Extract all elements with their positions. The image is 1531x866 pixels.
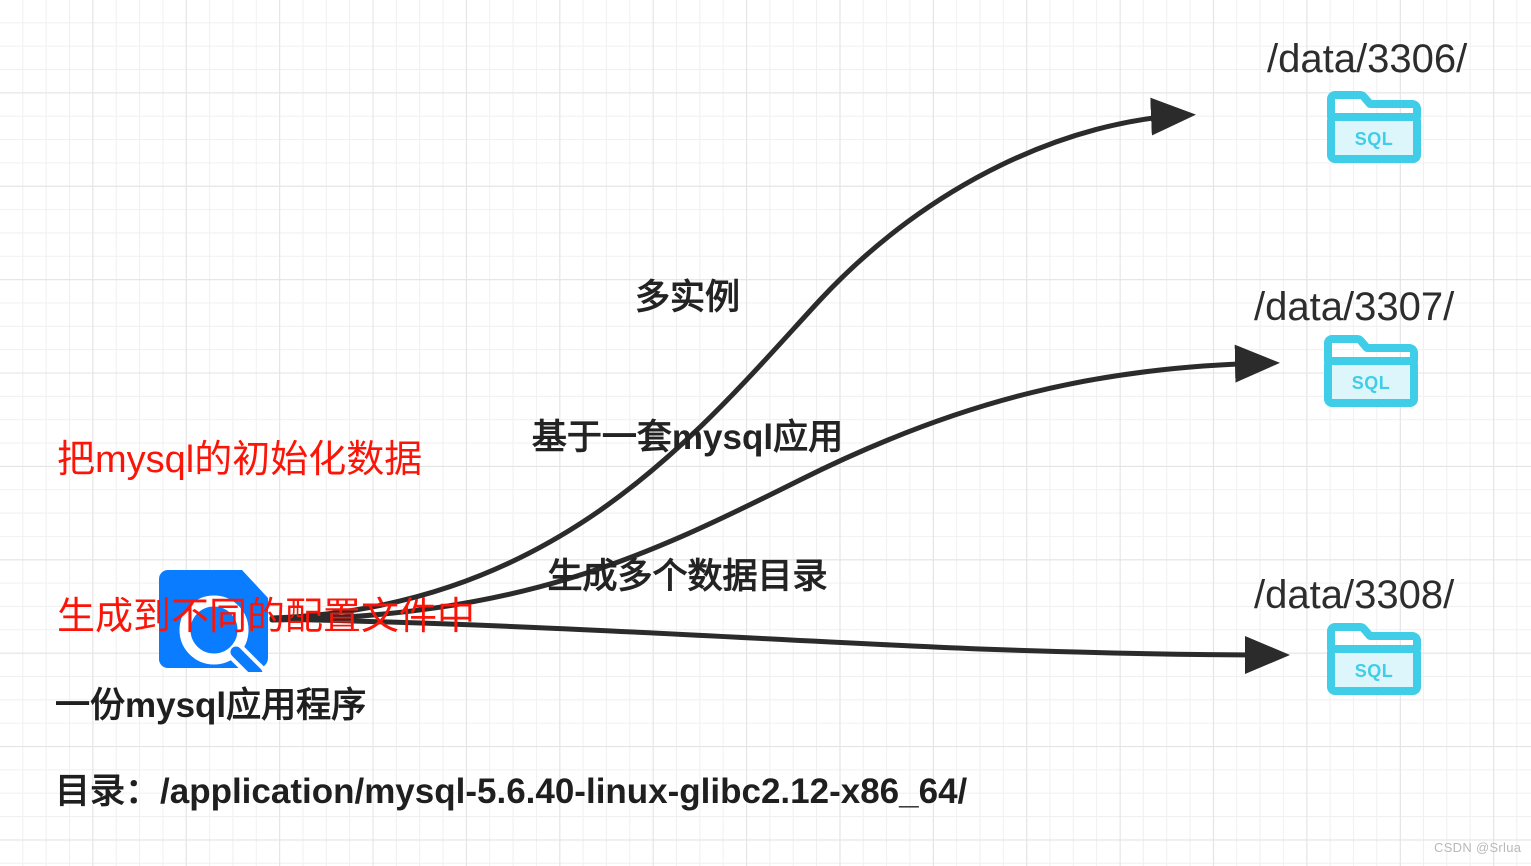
center-note-line-3: 生成多个数据目录	[510, 554, 865, 601]
center-note: 多实例 基于一套mysql应用 生成多个数据目录	[510, 182, 865, 694]
source-caption: 一份mysql应用程序	[55, 685, 366, 728]
folder-label-3306: SQL	[1355, 129, 1394, 149]
diagram-canvas: /data/3306/ SQL /data/3307/ SQL /data/33…	[0, 0, 1531, 866]
center-note-line-2: 基于一套mysql应用	[510, 415, 865, 462]
watermark: CSDN @Srlua	[1434, 840, 1521, 856]
folder-icon-3306: SQL	[1325, 91, 1423, 163]
folder-label-3308: SQL	[1355, 661, 1394, 681]
folder-icon-3308: SQL	[1325, 623, 1423, 695]
folder-label-3307: SQL	[1352, 373, 1391, 393]
source-directory-label: 目录：/application/mysql-5.6.40-linux-glibc…	[55, 770, 965, 815]
red-annotation-line-1: 把mysql的初始化数据	[57, 434, 475, 486]
red-annotation-line-2: 生成到不同的配置文件中	[57, 591, 475, 643]
folder-icon-3307: SQL	[1322, 335, 1420, 407]
target-label-3306: /data/3306/	[1267, 35, 1467, 84]
target-label-3307: /data/3307/	[1254, 283, 1454, 332]
target-label-3308: /data/3308/	[1254, 571, 1454, 620]
center-note-line-1: 多实例	[510, 275, 865, 322]
